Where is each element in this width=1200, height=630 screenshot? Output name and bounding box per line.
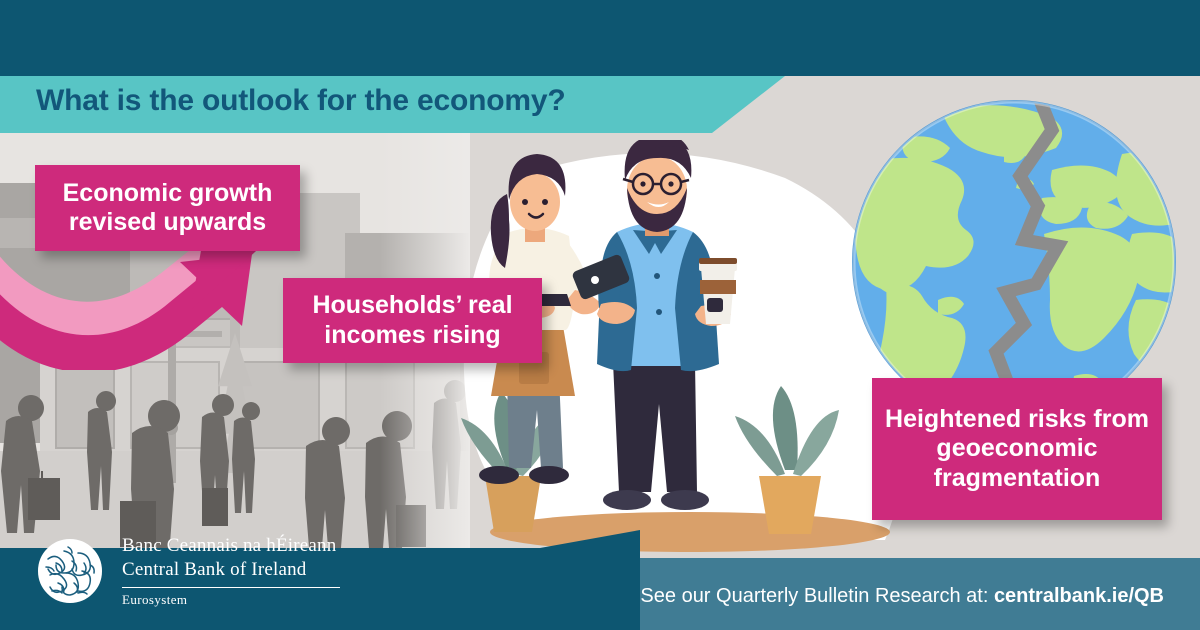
callout-household-incomes[interactable]: Households’ real incomes rising bbox=[283, 278, 542, 363]
logo-line-irish: Banc Ceannais na hÉireann bbox=[122, 534, 340, 558]
logo-divider bbox=[122, 587, 340, 588]
subtitle-text: What is the outlook for the economy? bbox=[36, 84, 565, 118]
poster-canvas: BABYCUTE Beaut SPORT bbox=[0, 0, 1200, 630]
central-bank-logo[interactable]: Banc Ceannais na hÉireann Central Bank o… bbox=[38, 534, 340, 608]
floor-ellipse bbox=[490, 512, 890, 552]
wristwatch-icon bbox=[707, 298, 723, 312]
header-band bbox=[0, 0, 1200, 76]
logo-line-eurosystem: Eurosystem bbox=[122, 592, 340, 608]
callout-1-tail bbox=[191, 248, 260, 310]
logo-line-english: Central Bank of Ireland bbox=[122, 558, 340, 582]
logo-wordmark: Banc Ceannais na hÉireann Central Bank o… bbox=[122, 534, 340, 608]
footer-research-note[interactable]: See our Quarterly Bulletin Research at: … bbox=[640, 585, 1164, 608]
callout-economic-growth[interactable]: Economic growth revised upwards bbox=[35, 165, 300, 251]
footer-note-url[interactable]: centralbank.ie/QB bbox=[994, 585, 1164, 607]
central-bank-globe-logo-icon bbox=[38, 539, 102, 603]
footer-note-prefix: See our Quarterly Bulletin Research at: bbox=[640, 585, 994, 607]
callout-geoeconomic-risks[interactable]: Heightened risks from geoeconomic fragme… bbox=[872, 378, 1162, 520]
